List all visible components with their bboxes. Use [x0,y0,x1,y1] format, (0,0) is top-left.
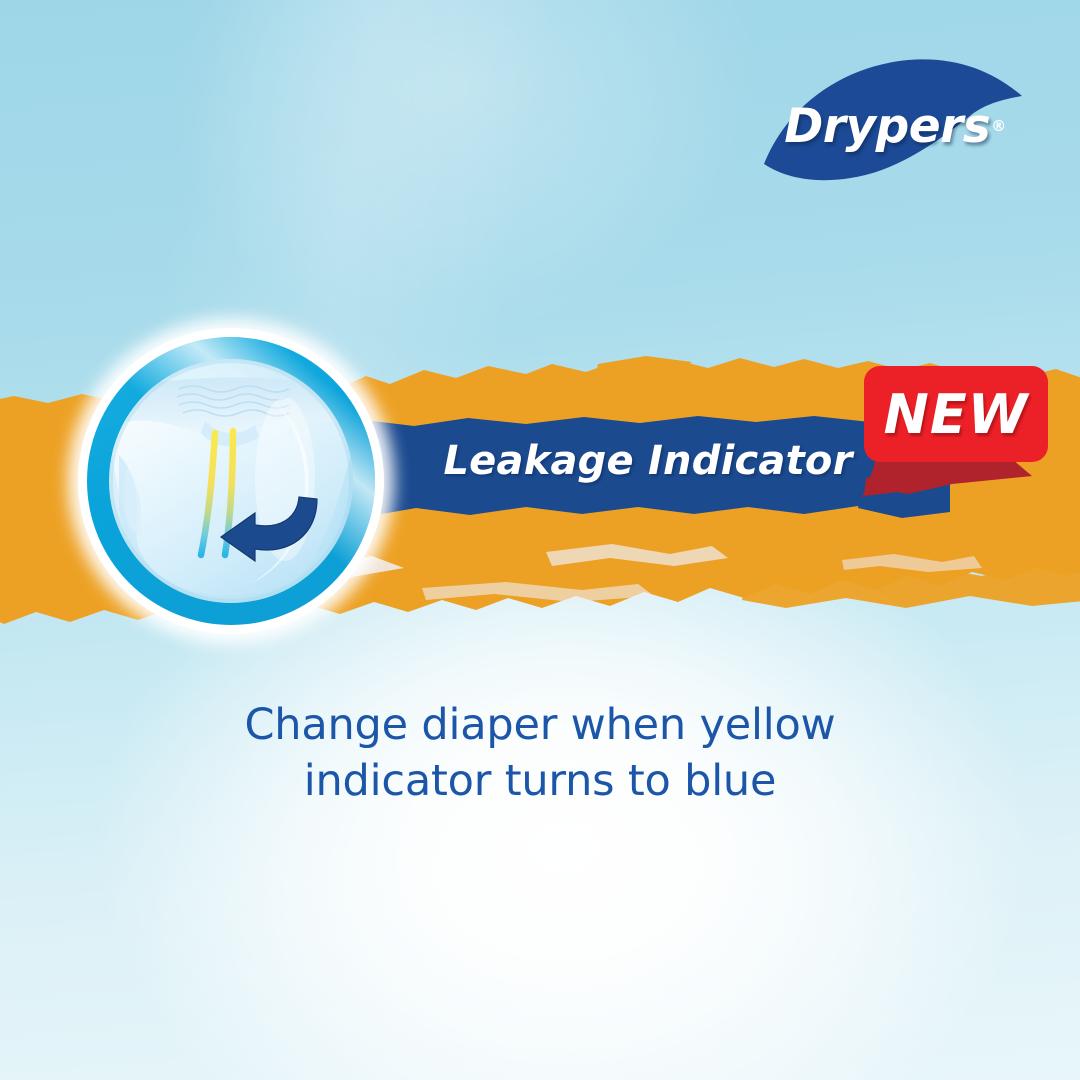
tagline-line-1: Change diaper when yellow [140,698,940,754]
new-badge: NEW [856,366,1056,512]
banner-label: Leakage Indicator [428,438,868,484]
advertisement-canvas: Leakage Indicator NEW [0,0,1080,1080]
leakage-indicator-circle [78,328,384,634]
badge-label: NEW [864,366,1048,462]
logo-wordmark: Drypers® [762,56,1024,196]
registered-trademark-icon: ® [991,117,1006,135]
tagline-line-2: indicator turns to blue [140,754,940,810]
logo-brand-name: Drypers [784,99,990,154]
drypers-logo: Drypers® [762,56,1024,196]
diaper-illustration [109,359,353,603]
tagline: Change diaper when yellow indicator turn… [140,698,940,810]
